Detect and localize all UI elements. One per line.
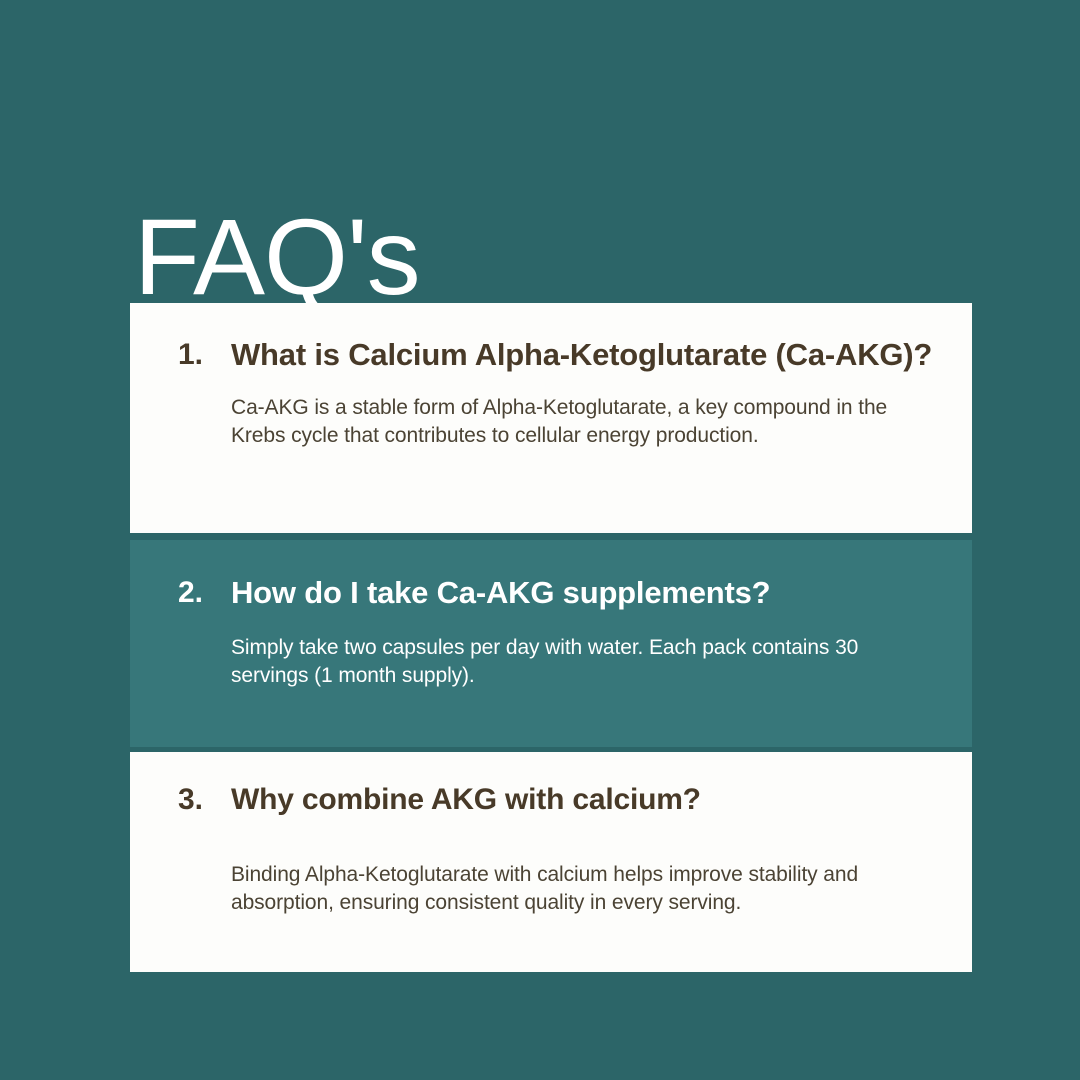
faq-item-3-answer: Binding Alpha-Ketoglutarate with calcium…	[231, 861, 861, 916]
faq-item-2-answer: Simply take two capsules per day with wa…	[231, 634, 891, 689]
faq-item-3-question: Why combine AKG with calcium?	[231, 780, 942, 820]
faq-list: 1. What is Calcium Alpha-Ketoglutarate (…	[130, 303, 972, 972]
faq-item-1-answer: Ca-AKG is a stable form of Alpha-Ketoglu…	[231, 394, 891, 449]
page-title: FAQ's	[134, 203, 420, 311]
faq-item-1-number: 1.	[178, 336, 231, 374]
faq-item-1[interactable]: 1. What is Calcium Alpha-Ketoglutarate (…	[130, 303, 972, 533]
faq-item-2[interactable]: 2. How do I take Ca-AKG supplements? Sim…	[130, 540, 972, 747]
faq-item-2-question: How do I take Ca-AKG supplements?	[231, 574, 942, 612]
faq-item-3-number: 3.	[178, 780, 231, 820]
faq-item-1-header: 1. What is Calcium Alpha-Ketoglutarate (…	[178, 336, 942, 374]
faq-item-2-number: 2.	[178, 574, 231, 612]
faq-item-3[interactable]: 3. Why combine AKG with calcium? Binding…	[130, 752, 972, 972]
faq-item-3-header: 3. Why combine AKG with calcium?	[178, 780, 942, 820]
faq-page: FAQ's 1. What is Calcium Alpha-Ketogluta…	[0, 0, 1080, 1080]
faq-item-1-question: What is Calcium Alpha-Ketoglutarate (Ca-…	[231, 336, 942, 374]
faq-item-2-header: 2. How do I take Ca-AKG supplements?	[178, 574, 942, 612]
